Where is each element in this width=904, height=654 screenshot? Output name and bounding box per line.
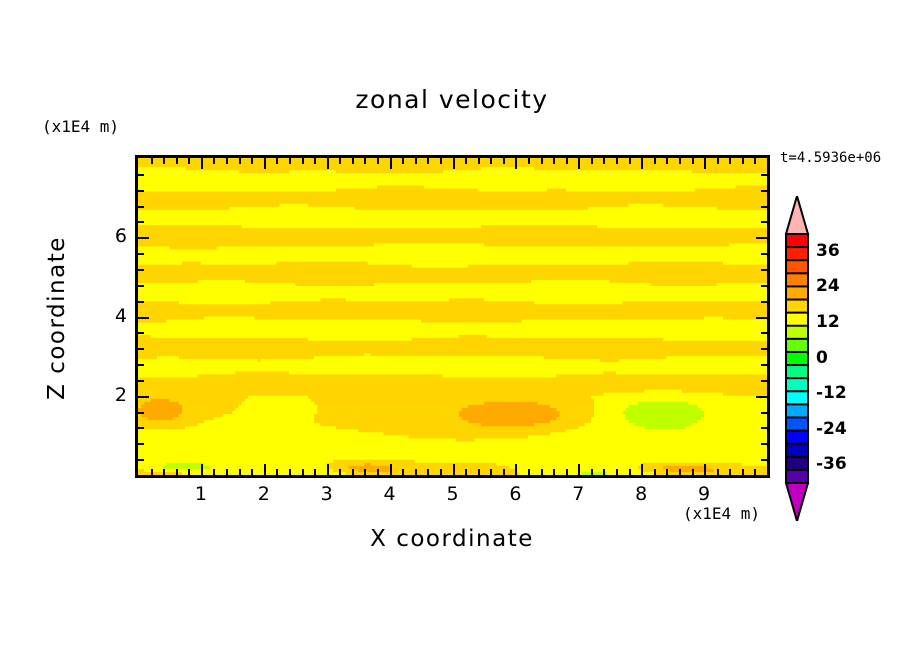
x-tick-top	[314, 158, 316, 164]
y-tick-right	[761, 174, 767, 176]
y-tick-label-2: 2	[87, 384, 127, 406]
x-tick	[566, 469, 568, 475]
x-tick-top	[490, 158, 492, 164]
x-tick	[289, 469, 291, 475]
y-tick	[138, 348, 144, 350]
y-tick-right	[761, 332, 767, 334]
x-tick	[578, 464, 580, 475]
x-tick-top	[239, 158, 241, 164]
x-tick-top	[427, 158, 429, 164]
x-tick-top	[151, 158, 153, 164]
x-tick	[515, 464, 517, 475]
y-tick	[138, 206, 144, 208]
x-tick-top	[566, 158, 568, 164]
x-tick	[201, 464, 203, 475]
y-tick-right	[756, 237, 767, 239]
x-tick	[729, 469, 731, 475]
x-tick-label-8: 8	[621, 483, 661, 505]
x-tick	[440, 469, 442, 475]
y-tick-right	[761, 206, 767, 208]
x-tick-top	[654, 158, 656, 164]
y-tick-right	[761, 285, 767, 287]
contour-field	[138, 158, 767, 475]
time-annotation: t=4.5936e+06	[780, 150, 881, 166]
x-tick-top	[453, 158, 455, 169]
x-tick-top	[528, 158, 530, 164]
x-tick	[352, 469, 354, 475]
x-tick	[163, 469, 165, 475]
y-axis-unit-label: (x1E4 m)	[42, 117, 119, 136]
x-tick	[503, 469, 505, 475]
x-tick	[264, 464, 266, 475]
x-tick	[704, 464, 706, 475]
x-axis-title: X coordinate	[0, 526, 904, 552]
y-tick-label-6: 6	[87, 225, 127, 247]
y-tick	[138, 285, 144, 287]
x-tick	[528, 469, 530, 475]
x-tick	[754, 469, 756, 475]
colorbar-label-12: 12	[816, 312, 840, 332]
x-tick-top	[729, 158, 731, 164]
x-tick	[453, 464, 455, 475]
x-tick	[629, 469, 631, 475]
x-tick-label-5: 5	[433, 483, 473, 505]
y-tick	[138, 253, 144, 255]
x-tick-top	[692, 158, 694, 164]
y-tick	[138, 317, 149, 319]
y-tick-right	[756, 396, 767, 398]
x-tick-top	[742, 158, 744, 164]
x-tick-top	[704, 158, 706, 169]
y-tick-right	[761, 443, 767, 445]
x-tick	[415, 469, 417, 475]
x-tick-label-3: 3	[307, 483, 347, 505]
colorbar-label-36: 36	[816, 241, 840, 261]
x-tick	[251, 469, 253, 475]
colorbar-label-neg12: -12	[816, 383, 847, 403]
x-tick	[553, 469, 555, 475]
y-tick	[138, 301, 144, 303]
x-tick	[314, 469, 316, 475]
x-tick	[717, 469, 719, 475]
x-tick-label-9: 9	[684, 483, 724, 505]
x-tick	[302, 469, 304, 475]
x-tick	[151, 469, 153, 475]
x-tick-top	[666, 158, 668, 164]
y-tick-right	[761, 190, 767, 192]
y-tick-right	[761, 348, 767, 350]
y-tick	[138, 221, 144, 223]
y-tick	[138, 459, 144, 461]
x-tick	[226, 469, 228, 475]
x-tick-top	[364, 158, 366, 164]
x-tick-top	[465, 158, 467, 164]
x-tick	[490, 469, 492, 475]
x-tick	[692, 469, 694, 475]
x-tick-label-7: 7	[558, 483, 598, 505]
x-tick-top	[641, 158, 643, 169]
y-tick-label-4: 4	[87, 305, 127, 327]
colorbar-swatches	[782, 196, 812, 521]
x-tick-top	[289, 158, 291, 164]
x-tick	[339, 469, 341, 475]
x-tick-top	[226, 158, 228, 164]
x-tick-top	[754, 158, 756, 164]
y-tick-right	[761, 221, 767, 223]
x-tick-top	[188, 158, 190, 164]
x-tick	[478, 469, 480, 475]
y-tick-right	[761, 253, 767, 255]
y-tick	[138, 427, 144, 429]
x-tick-top	[503, 158, 505, 164]
x-tick-label-2: 2	[244, 483, 284, 505]
x-tick-top	[264, 158, 266, 169]
x-tick-top	[251, 158, 253, 164]
x-tick	[679, 469, 681, 475]
x-tick	[641, 464, 643, 475]
x-tick	[364, 469, 366, 475]
y-tick	[138, 412, 144, 414]
x-tick	[465, 469, 467, 475]
y-tick	[138, 380, 144, 382]
y-tick	[138, 364, 144, 366]
y-tick-right	[756, 317, 767, 319]
x-tick	[666, 469, 668, 475]
x-tick	[603, 469, 605, 475]
x-tick-top	[327, 158, 329, 169]
y-tick-right	[761, 269, 767, 271]
x-tick	[239, 469, 241, 475]
y-tick	[138, 396, 149, 398]
y-axis-title: Z coordinate	[44, 228, 70, 408]
y-tick	[138, 332, 144, 334]
x-tick	[327, 464, 329, 475]
y-tick-right	[761, 412, 767, 414]
x-tick	[541, 469, 543, 475]
x-tick-label-6: 6	[495, 483, 535, 505]
x-tick-top	[163, 158, 165, 164]
colorbar-label-neg24: -24	[816, 419, 847, 439]
x-tick-label-1: 1	[181, 483, 221, 505]
x-tick-top	[176, 158, 178, 164]
x-tick	[276, 469, 278, 475]
x-tick-top	[402, 158, 404, 164]
x-tick-top	[591, 158, 593, 164]
x-tick-top	[603, 158, 605, 164]
x-tick	[402, 469, 404, 475]
x-tick-top	[478, 158, 480, 164]
x-tick-top	[717, 158, 719, 164]
x-tick	[427, 469, 429, 475]
x-tick-top	[201, 158, 203, 169]
x-tick	[591, 469, 593, 475]
y-tick	[138, 174, 144, 176]
figure-root: zonal velocity (x1E4 m) (x1E4 m) X coord…	[0, 0, 904, 654]
x-tick-top	[352, 158, 354, 164]
x-tick-top	[415, 158, 417, 164]
y-tick-right	[761, 459, 767, 461]
x-tick-top	[616, 158, 618, 164]
x-tick-top	[629, 158, 631, 164]
colorbar-label-neg36: -36	[816, 454, 847, 474]
x-tick-label-4: 4	[370, 483, 410, 505]
x-tick	[616, 469, 618, 475]
x-tick	[377, 469, 379, 475]
x-tick	[654, 469, 656, 475]
x-tick-top	[213, 158, 215, 164]
x-tick-top	[515, 158, 517, 169]
x-tick-top	[679, 158, 681, 164]
x-tick	[188, 469, 190, 475]
x-tick-top	[377, 158, 379, 164]
colorbar-label-24: 24	[816, 276, 840, 296]
y-tick-right	[761, 427, 767, 429]
colorbar-label-0: 0	[816, 348, 828, 368]
x-tick-top	[276, 158, 278, 164]
contour-plot-area	[135, 155, 770, 478]
x-tick-top	[553, 158, 555, 164]
x-tick	[213, 469, 215, 475]
x-tick	[742, 469, 744, 475]
x-tick-top	[578, 158, 580, 169]
page-title: zonal velocity	[0, 85, 904, 114]
x-axis-unit-label: (x1E4 m)	[683, 504, 760, 523]
x-tick-top	[390, 158, 392, 169]
y-tick	[138, 443, 144, 445]
y-tick	[138, 237, 149, 239]
colorbar	[782, 196, 812, 521]
y-tick	[138, 269, 144, 271]
y-tick	[138, 190, 144, 192]
x-tick-top	[541, 158, 543, 164]
y-tick-right	[761, 364, 767, 366]
y-tick-right	[761, 301, 767, 303]
y-tick-right	[761, 380, 767, 382]
x-tick-top	[339, 158, 341, 164]
x-tick	[390, 464, 392, 475]
x-tick	[176, 469, 178, 475]
x-tick-top	[440, 158, 442, 164]
x-tick-top	[302, 158, 304, 164]
